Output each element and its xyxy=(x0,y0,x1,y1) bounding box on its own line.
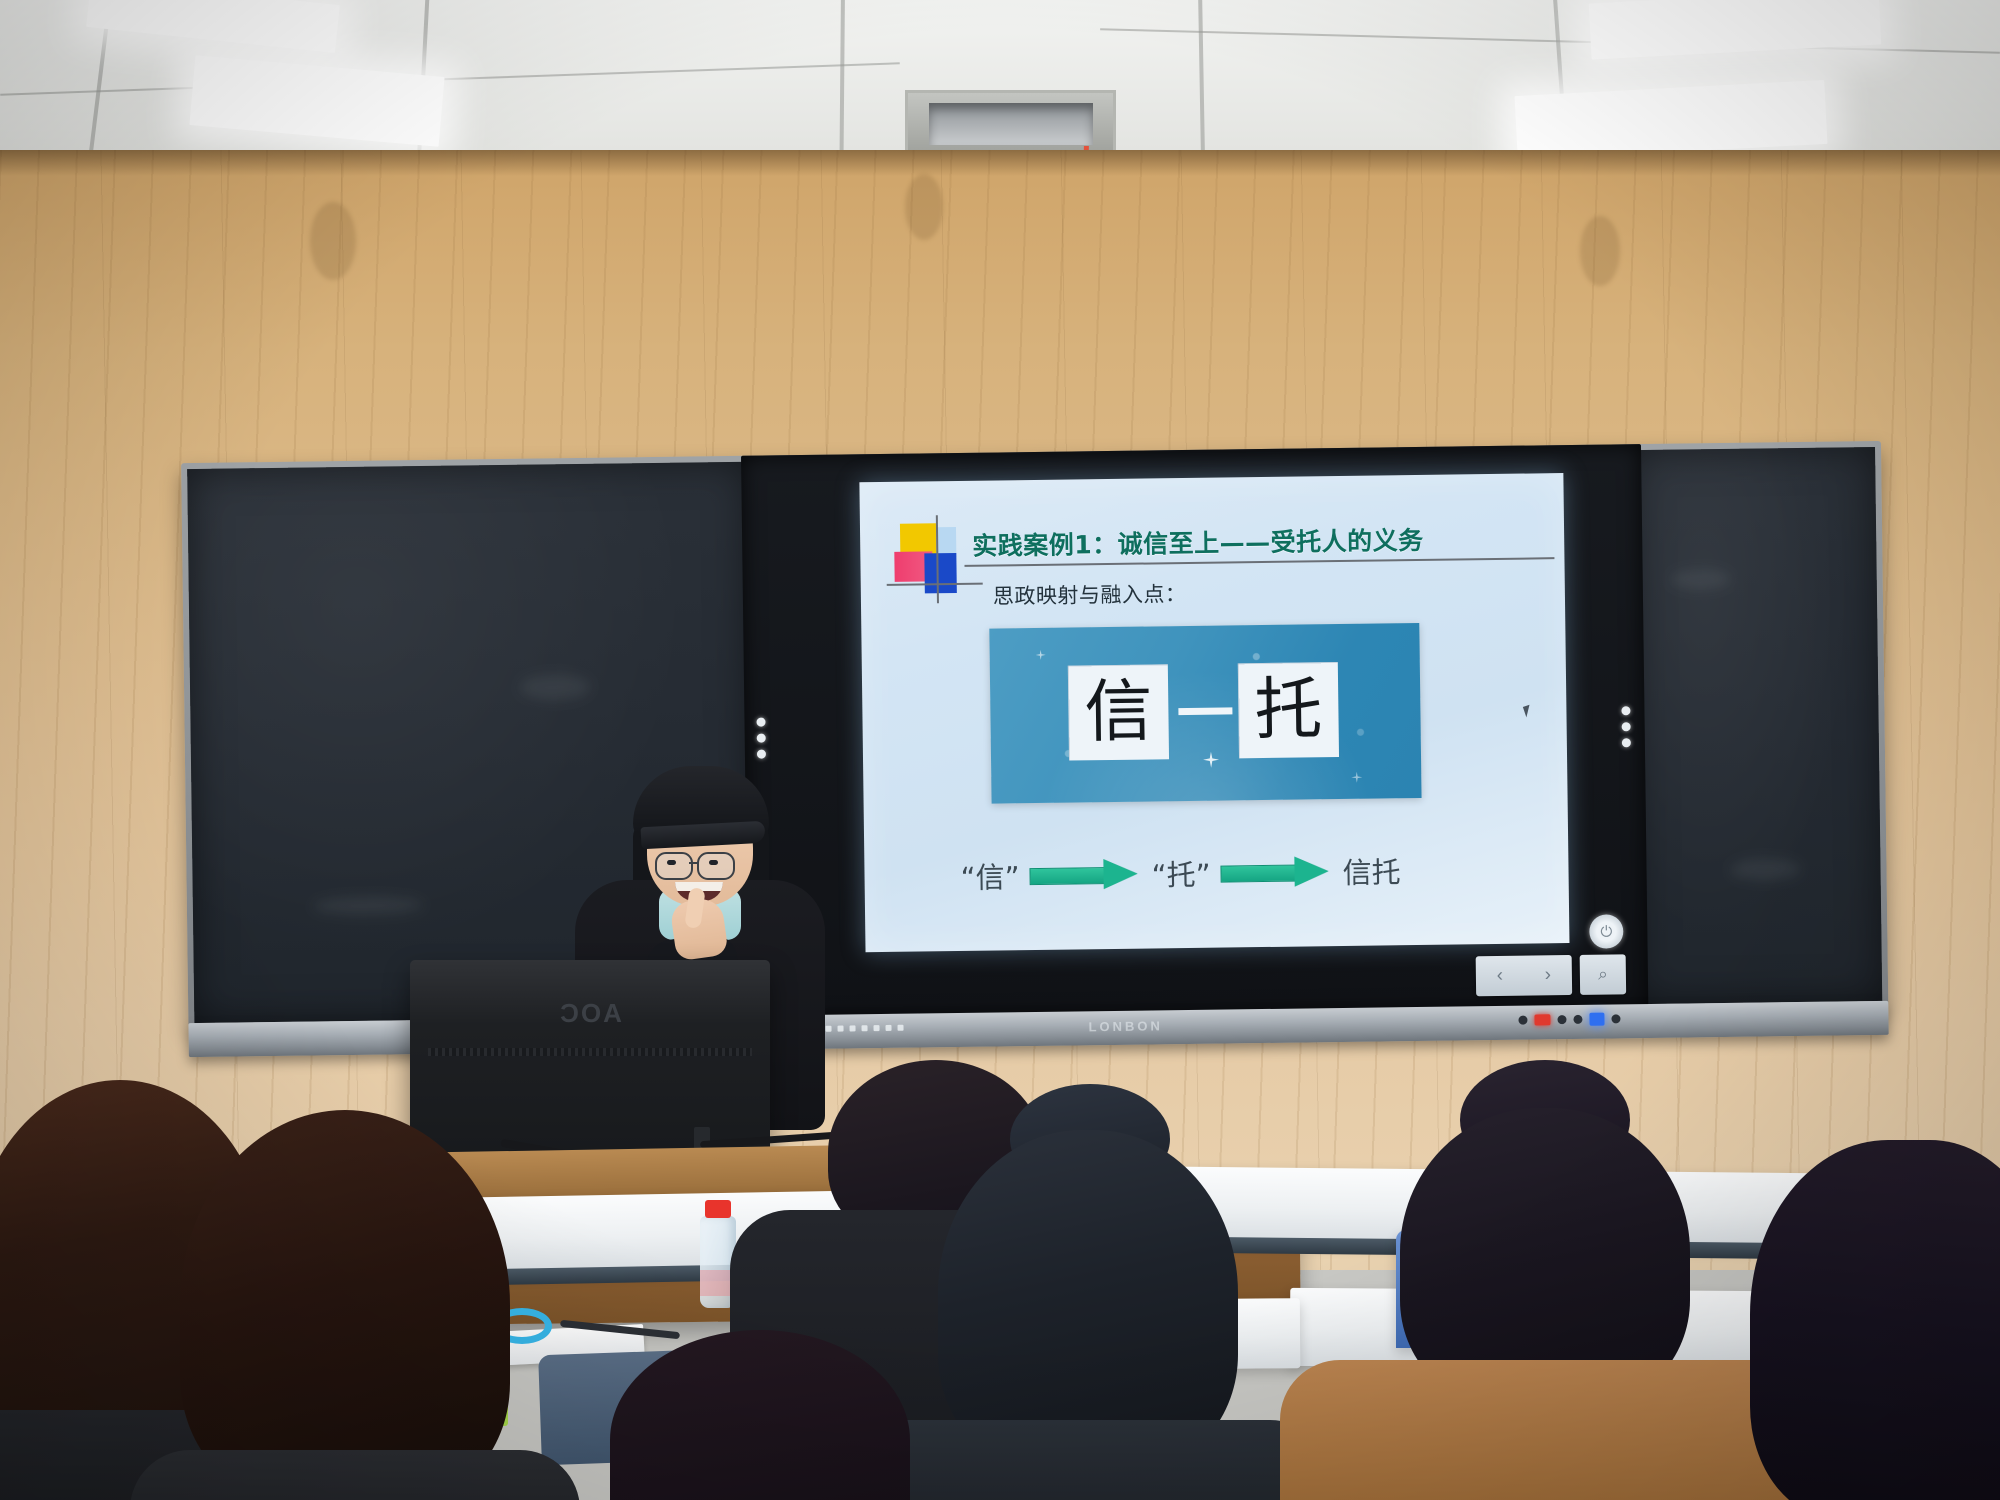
display-control-group[interactable]: ‹ › ⌕ xyxy=(1476,954,1627,996)
display-indicator-dots-right xyxy=(1621,706,1631,754)
slide-flow-diagram: “信” “托” 信托 xyxy=(960,848,1481,897)
tray-brand-logo: LONBON xyxy=(1088,1018,1163,1034)
display-nav-buttons[interactable]: ‹ › xyxy=(1476,955,1573,996)
arrow-right-icon-1 xyxy=(1029,859,1141,890)
student-4-hair xyxy=(938,1130,1238,1470)
teacher-glasses-bridge xyxy=(689,862,699,864)
ceiling-light-1 xyxy=(86,0,340,53)
teacher-eye-right xyxy=(709,860,718,865)
student-7-hair xyxy=(1750,1140,2000,1500)
list-item xyxy=(480,1330,900,1500)
ceiling-light-2 xyxy=(189,55,444,147)
status-led-icon xyxy=(1589,1013,1604,1026)
student-6-shoulders xyxy=(1280,1360,1820,1500)
classroom-photo: 实践案例1：诚信至上——受托人的义务 思政映射与融入点： 信 托 “信” “托” xyxy=(0,0,2000,1500)
right-chalkboard xyxy=(1629,447,1882,1004)
teacher-eye-left xyxy=(667,860,676,865)
display-power-button[interactable]: ⏻ xyxy=(1589,914,1623,948)
flow-step-1: “信” xyxy=(960,854,1020,897)
interactive-display[interactable]: 实践案例1：诚信至上——受托人的义务 思政映射与融入点： 信 托 “信” “托” xyxy=(741,444,1648,1022)
list-item xyxy=(860,1090,1280,1500)
calligraphy-dash xyxy=(1178,707,1232,715)
calligraphy-char-xin: 信 xyxy=(1068,664,1169,760)
student-5-hair xyxy=(610,1330,910,1500)
arrow-right-icon-2 xyxy=(1220,856,1332,887)
monitor-brand-logo: AOC xyxy=(558,998,622,1029)
power-led-icon xyxy=(1534,1014,1550,1025)
slide-title: 实践案例1：诚信至上——受托人的义务 xyxy=(972,519,1552,563)
flow-step-2: “托” xyxy=(1151,852,1211,895)
calligraphy-char-tuo: 托 xyxy=(1238,662,1339,758)
wall-shadow xyxy=(0,150,2000,176)
display-prev-button[interactable]: ‹ xyxy=(1497,965,1504,987)
display-extra-button[interactable]: ⌕ xyxy=(1580,954,1627,995)
monitor-vent-grille xyxy=(428,1048,752,1056)
display-indicator-dots-left xyxy=(756,718,766,766)
slide-subtitle: 思政映射与融入点： xyxy=(993,578,1187,611)
tray-port-row[interactable] xyxy=(1518,1012,1620,1026)
slide-image-block: 信 托 xyxy=(989,623,1421,804)
list-item xyxy=(1750,1140,2000,1500)
display-next-button[interactable]: › xyxy=(1545,964,1552,986)
list-item xyxy=(1340,1060,1760,1500)
presentation-slide: 实践案例1：诚信至上——受托人的义务 思政映射与融入点： 信 托 “信” “托” xyxy=(859,473,1569,952)
ceiling-light-3 xyxy=(1589,0,1882,60)
tray-button-row[interactable] xyxy=(814,1025,904,1032)
teacher-glasses-left xyxy=(655,852,693,880)
student-2-hair xyxy=(180,1110,510,1500)
mouse-cursor-icon xyxy=(1523,705,1533,718)
slide-decor-squares xyxy=(894,521,973,598)
teacher-glasses-right xyxy=(697,852,735,880)
flow-result: 信托 xyxy=(1342,849,1401,892)
